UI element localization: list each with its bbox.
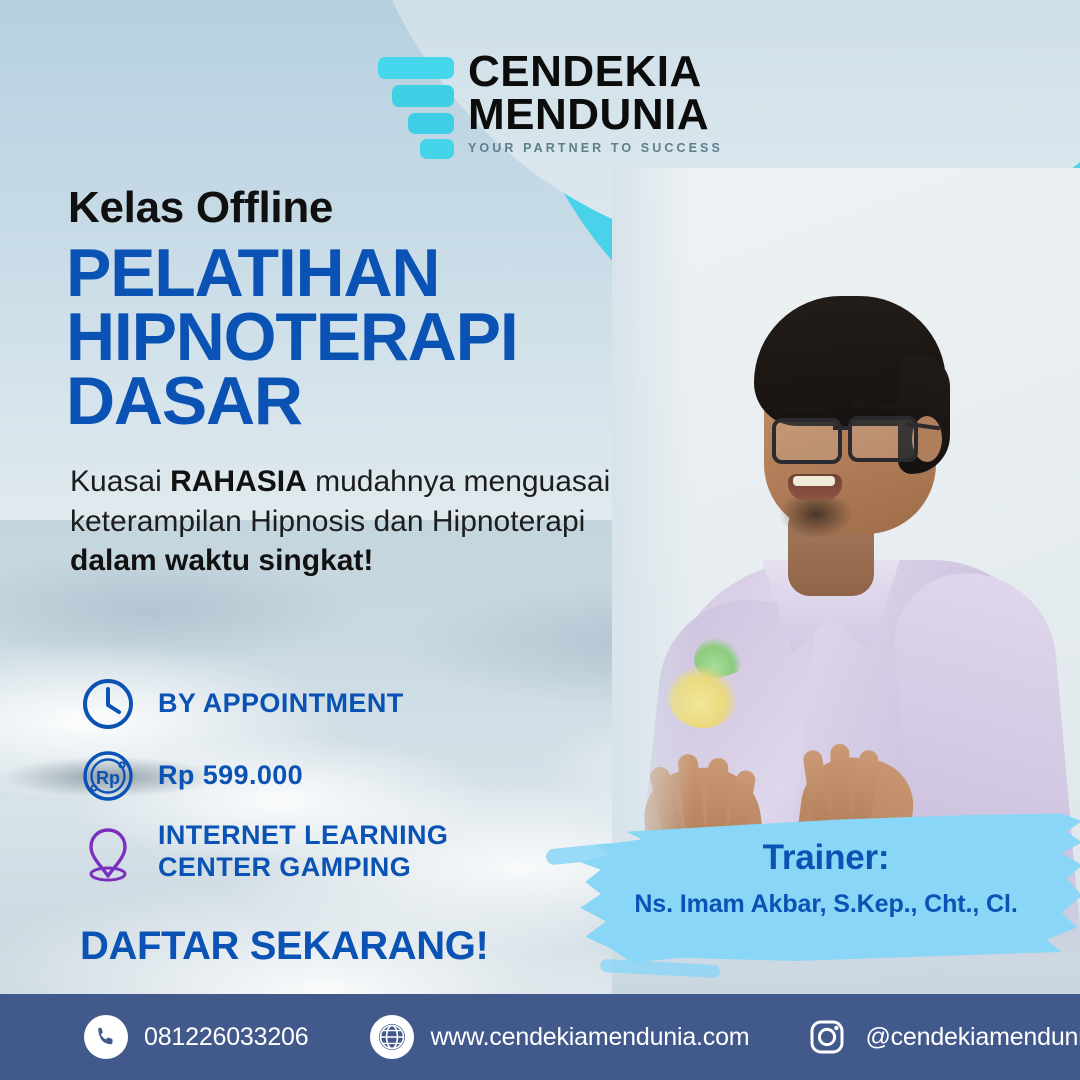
logo-bar bbox=[378, 57, 454, 79]
location-line-1: INTERNET LEARNING bbox=[158, 820, 448, 852]
location-pin-icon bbox=[80, 824, 136, 880]
title-line-2: HIPNOTERAPI bbox=[66, 306, 666, 370]
info-row-location: INTERNET LEARNING CENTER GAMPING bbox=[80, 820, 600, 884]
info-row-schedule: BY APPOINTMENT bbox=[80, 676, 600, 732]
photo-teeth bbox=[793, 476, 835, 486]
clock-icon bbox=[80, 676, 136, 732]
page-title: PELATIHAN HIPNOTERAPI DASAR bbox=[66, 242, 666, 434]
description-text: Kuasai RAHASIA mudahnya menguasai ketera… bbox=[70, 462, 630, 581]
location-line-2: CENTER GAMPING bbox=[158, 852, 448, 884]
footer-instagram[interactable]: @cendekiamendunia bbox=[805, 1015, 1080, 1059]
cta-register[interactable]: DAFTAR SEKARANG! bbox=[80, 924, 488, 969]
footer-instagram-value: @cendekiamendunia bbox=[865, 1023, 1080, 1052]
logo-bar bbox=[420, 139, 454, 159]
phone-icon bbox=[84, 1015, 128, 1059]
stacked-bars-icon bbox=[378, 53, 454, 153]
instagram-icon bbox=[805, 1015, 849, 1059]
footer-phone[interactable]: 081226033206 bbox=[84, 1015, 308, 1059]
brand-wordmark: CENDEKIA MENDUNIA YOUR PARTNER TO SUCCES… bbox=[468, 52, 723, 154]
brand-logo: CENDEKIA MENDUNIA YOUR PARTNER TO SUCCES… bbox=[378, 52, 723, 154]
info-list: BY APPOINTMENT Rp Rp 599.000 bbox=[80, 676, 600, 900]
info-label-schedule: BY APPOINTMENT bbox=[158, 688, 404, 720]
brand-name-line1: CENDEKIA bbox=[468, 52, 723, 92]
brand-name-line2: MENDUNIA bbox=[468, 95, 723, 135]
title-line-1: PELATIHAN bbox=[66, 242, 666, 306]
logo-bar bbox=[392, 85, 454, 107]
svg-text:Rp: Rp bbox=[96, 768, 120, 788]
info-row-price: Rp Rp 599.000 bbox=[80, 748, 600, 804]
globe-icon bbox=[370, 1015, 414, 1059]
trainer-heading: Trainer: bbox=[570, 838, 1080, 878]
brand-tagline: YOUR PARTNER TO SUCCESS bbox=[468, 143, 723, 154]
eyebrow-label: Kelas Offline bbox=[68, 183, 333, 233]
footer-bar: 081226033206 www.cendekiamendunia.com bbox=[0, 994, 1080, 1080]
photo-glasses-bridge bbox=[833, 426, 851, 430]
logo-bar bbox=[408, 113, 454, 134]
photo-glasses-left bbox=[772, 418, 842, 464]
description-span: Kuasai bbox=[70, 465, 170, 498]
rupiah-coin-icon: Rp bbox=[80, 748, 136, 804]
brush-stroke-banner bbox=[570, 812, 1080, 964]
description-emphasis: RAHASIA bbox=[170, 465, 307, 498]
poster-canvas: CENDEKIA MENDUNIA YOUR PARTNER TO SUCCES… bbox=[0, 0, 1080, 1080]
trainer-name: Ns. Imam Akbar, S.Kep., Cht., Cl. bbox=[570, 890, 1080, 919]
photo-goatee bbox=[780, 498, 852, 538]
info-label-price: Rp 599.000 bbox=[158, 760, 303, 792]
description-emphasis: dalam waktu singkat! bbox=[70, 544, 373, 577]
title-line-3: DASAR bbox=[66, 370, 666, 434]
footer-website[interactable]: www.cendekiamendunia.com bbox=[370, 1015, 749, 1059]
footer-phone-value: 081226033206 bbox=[144, 1023, 308, 1052]
info-label-location: INTERNET LEARNING CENTER GAMPING bbox=[158, 820, 448, 884]
footer-website-value: www.cendekiamendunia.com bbox=[430, 1023, 749, 1052]
